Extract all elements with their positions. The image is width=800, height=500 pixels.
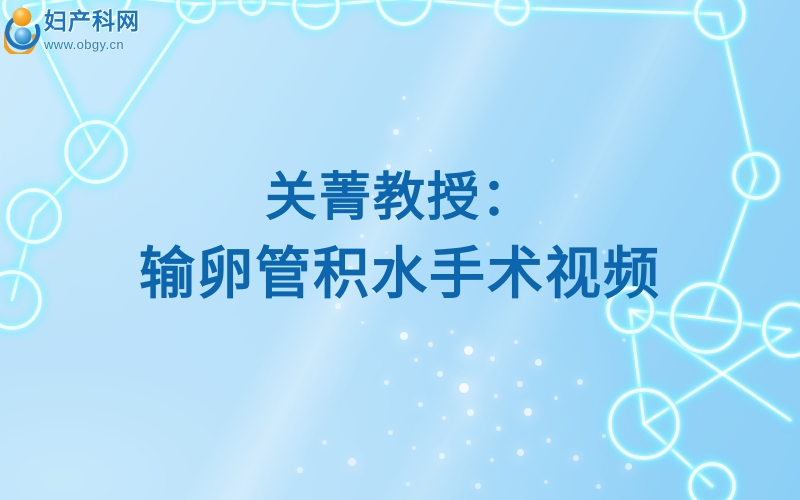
sparkle-dot	[577, 379, 583, 385]
sparkle-dot	[625, 463, 632, 470]
sparkle-dot	[544, 480, 548, 484]
sparkle-dot	[348, 458, 356, 466]
logo-url: www.obgy.cn	[44, 38, 140, 51]
sparkle-dot	[437, 371, 443, 377]
sparkle-dot	[546, 438, 551, 443]
sparkle-dot	[402, 96, 406, 100]
site-logo[interactable]: 妇产科网 www.obgy.cn	[4, 6, 140, 54]
headline: 关菁教授： 输卵管积水手术视频	[0, 160, 800, 312]
sparkle-dot	[439, 453, 445, 459]
sparkle-dot	[466, 440, 471, 445]
sparkle-dot	[490, 356, 495, 361]
sparkle-dot	[524, 408, 532, 416]
sparkle-dot	[412, 446, 416, 450]
logo-title: 妇产科网	[44, 10, 140, 33]
sparkle-dot	[418, 402, 423, 407]
sparkle-dot	[450, 330, 454, 334]
sparkle-dot	[596, 484, 601, 489]
sparkle-dot	[414, 358, 418, 362]
sparkle-dot	[554, 396, 558, 400]
sparkle-dot	[388, 430, 393, 435]
sparkle-dot	[573, 455, 579, 461]
sparkle-dot	[494, 394, 498, 398]
banner-root: 妇产科网 www.obgy.cn 关菁教授： 输卵管积水手术视频	[0, 0, 800, 500]
sparkle-dot	[442, 416, 446, 420]
headline-line-2: 输卵管积水手术视频	[0, 236, 800, 312]
sparkle-dot	[535, 359, 542, 366]
sparkle-dot	[514, 340, 518, 344]
sparkle-dot	[490, 458, 494, 462]
sparkle-dot	[459, 383, 469, 393]
headline-line-1: 关菁教授：	[0, 160, 800, 236]
sparkle-dot	[406, 482, 410, 486]
sparkle-dot	[464, 346, 473, 355]
sparkle-dot	[429, 149, 432, 152]
sparkle-dot	[428, 342, 433, 347]
sparkle-dot	[496, 426, 501, 431]
obgy-sphere-swoosh-icon	[4, 6, 42, 54]
sparkle-dot	[384, 380, 389, 385]
sparkle-dot	[467, 409, 474, 416]
sparkle-dot	[622, 338, 626, 342]
sparkle-dot	[393, 129, 399, 135]
sparkle-dot	[322, 440, 327, 445]
sparkle-dot	[361, 321, 364, 324]
sparkle-dot	[517, 449, 524, 456]
sparkle-dot	[417, 117, 420, 120]
sparkle-dot	[297, 467, 303, 473]
sparkle-dot	[517, 381, 523, 387]
sparkle-dot	[400, 332, 408, 340]
sparkle-dot	[475, 483, 481, 489]
logo-text-block: 妇产科网 www.obgy.cn	[44, 10, 140, 51]
sparkle-dot	[602, 434, 606, 438]
